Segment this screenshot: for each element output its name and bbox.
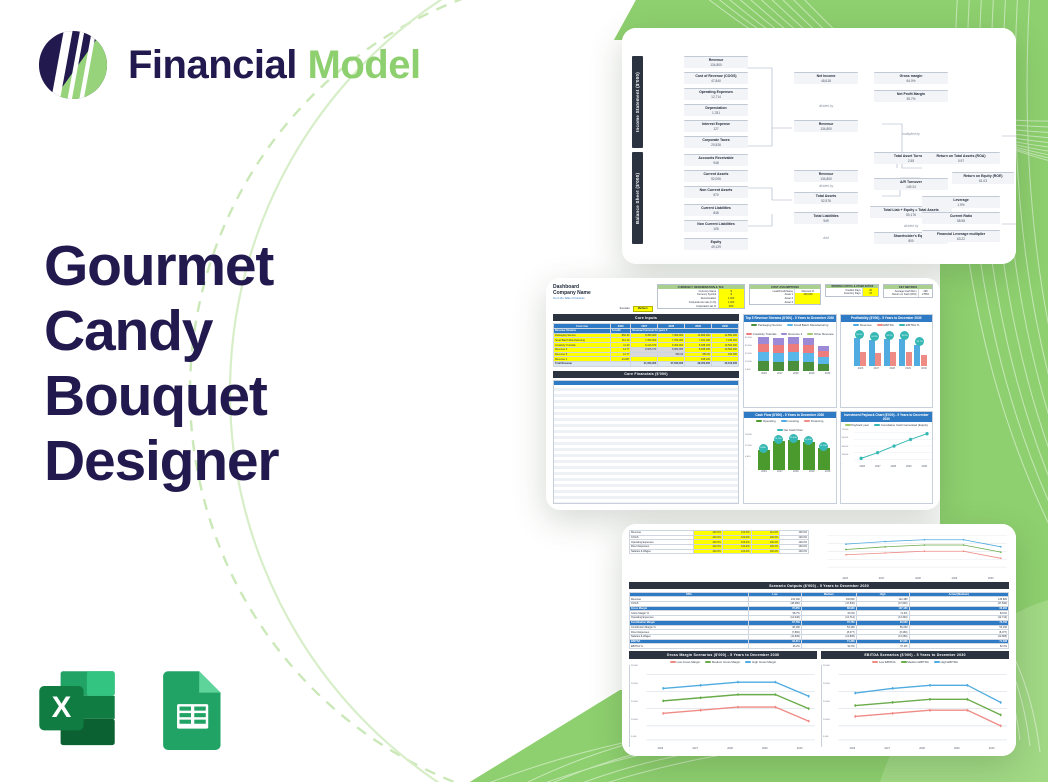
dupont-node-leverage: Leverage 1.9% [922,196,1000,208]
x-axis-labels: 2026 2027 2028 2029 2030 [813,576,1009,580]
dupont-node-total-assets: Total Assets 52,576 [794,192,858,204]
dupont-operator-divided-2: divided by [794,184,858,188]
dupont-node-financial-leverage-multiplier: Financial Leverage multiplier 63.22 [922,230,1000,242]
file-format-icons: X [36,668,232,750]
data-label: 9,800 [759,444,768,453]
chart-legend: Revenue EBITDA EBITDA % [841,322,933,329]
dashboard-toc-link[interactable]: Go to the Table of Contents [553,297,653,300]
panel-currency-denomination: CURRENCY, DENOMINATION & TAX Currency Na… [657,284,745,309]
kpi-label: Return on Cash (ROI) [884,293,918,297]
dashboard-charts-grid: Top 5 Revenue Streams ($'000) - 5 Years … [743,314,933,504]
dupont-operator-divided-3: divided by [874,224,948,228]
chart-plot-area: 34.0% 34.3% 34.1% [841,328,933,374]
title-line-3: Bouquet [44,364,267,428]
bars [744,337,836,371]
chart-plot-area: 18,000 12,000 6,000 - 9,800 14,750 [744,434,836,478]
dupont-node-equity: Equity 49,129 [684,238,748,250]
dupont-node-current-ratio: Current Ratio 58.98 [922,212,1000,224]
chart-title: Gross Margin Scenarios ($'000) - 5 Years… [629,651,817,658]
bar [818,346,829,371]
chart-title: Investment Payback Chart ($'000) - 5 Yea… [841,412,933,422]
chart-plot-area: 72,000 54,000 36,000 18,000 - [841,429,933,473]
data-label: 34.1% [885,331,894,340]
dupont-node-ar: Accounts Receivable 948 [684,154,748,166]
chart-top-5-revenue-streams[interactable]: Top 5 Revenue Streams ($'000) - 5 Years … [743,314,837,407]
chart-legend: Packaging Service Small Batch Manufactur… [744,322,836,338]
bar [773,338,784,371]
dashboard-company-name: Company Name [553,290,591,296]
scenario-assumption-table: Revenue 100.0% 100.0% 110.0% 100.0% COGS… [629,530,809,580]
chart-legend: Operating Investing Financing Net Cash F… [744,418,836,434]
chart-plot-area: 45,000 35,000 25,000 15,000 5,000 [744,337,836,379]
brand-wordmark: Financial Model [128,43,421,88]
scenario-outputs-title: Scenario Outputs ($'000) - 5 Years to De… [629,582,1009,589]
y-axis-labels: 18,000 12,000 6,000 - [745,434,752,470]
scenario-top-row: Revenue 100.0% 100.0% 110.0% 100.0% COGS… [629,530,1009,580]
x-axis-labels: 2026 2027 2028 2029 2030 [841,366,933,370]
chart-cash-flow[interactable]: Cash Flow ($'000) - 5 Years to December … [743,411,837,504]
chart-gross-margin-scenarios[interactable]: Gross Margin Scenarios ($'000) - 5 Years… [629,651,817,750]
panel-cost-assumptions: COST ASSUMPTIONS Lead/Credit NameDiscoun… [749,284,822,305]
y-axis-labels: 72,000 54,000 36,000 18,000 - [842,429,849,465]
chart-title: EBITDA Scenarios ($'000) - 5 Years to De… [821,651,1009,658]
kpi-value[interactable]: 30% [718,304,744,308]
data-label: 14,500 [804,436,813,445]
dupont-analysis-sheet: Income Statement ($'000) Balance Sheet (… [622,28,1016,264]
table-total-row: Total Revenue 41,003,000 37,840,000 39,4… [554,361,739,366]
screenshot-card-scenario[interactable]: Revenue 100.0% 100.0% 110.0% 100.0% COGS… [622,524,1016,756]
brand-name-part2: Model [308,43,421,87]
brand-logo: Financial Model [36,28,421,102]
dupont-node-opex: Operating Expenses 12,714 [684,88,748,100]
core-financials-title: Core Financials ($'000) [553,371,739,378]
data-label: 15,400 [789,434,798,443]
dupont-node-interest: Interest Expense 127 [684,120,748,132]
dupont-node-current-assets: Current Assets 52,006 [684,170,748,182]
data-label: 11,100 [819,442,828,451]
dashboard-body: Core Inputs Cost Line 2026 2027 2028 202… [553,314,933,504]
dupont-node-roa: Return on Total Assets (ROA) 0.97 [922,152,1000,164]
brand-name-part1: Financial [128,43,297,87]
dashboard-title: Dashboard [553,284,579,290]
chart-ebitda-scenarios[interactable]: EBITDA Scenarios ($'000) - 5 Years to De… [821,651,1009,750]
data-label: 14,750 [774,435,783,444]
table-row: Salaries & Wages 100.0% 100.0% 100.0% 10… [630,549,809,554]
data-label: 34.3% [870,332,879,341]
line-series [841,429,933,465]
chart-legend: Payback year Cumulative Cash Generated (… [841,422,933,429]
y-axis-labels: 25,000 20,000 15,000 10,000 5,000 [631,665,638,738]
screenshot-card-dupont[interactable]: Income Statement ($'000) Balance Sheet (… [622,28,1016,264]
bars: 9,800 14,750 15,400 14,500 11,100 [744,434,836,470]
dashboard-sheet: Dashboard Company Name Go to the Table o… [546,278,940,510]
dupont-operator-divided-1: divided by [794,104,858,108]
core-inputs-table: Cost Line 2026 2027 2028 2029 2030 Reven… [553,323,739,366]
dupont-connectors [622,28,1016,264]
data-label: 33.9% [900,331,909,340]
poster-canvas: Financial Model Gourmet Candy Bouquet De… [0,0,1048,782]
line-series [630,665,817,746]
scenario-bottom-charts: Gross Margin Scenarios ($'000) - 5 Years… [629,651,1009,750]
title-line-1: Gourmet [44,234,273,298]
chart-investment-payback[interactable]: Investment Payback Chart ($'000) - 5 Yea… [840,411,934,504]
dupont-node-gross-margin: Gross margin 64.0% [874,72,948,84]
scenario-label: Scenario [619,307,629,310]
google-sheets-icon[interactable] [150,668,232,750]
line-series [813,530,1009,576]
scenario-sheet: Revenue 100.0% 100.0% 110.0% 100.0% COGS… [622,524,1016,756]
x-axis-labels: 2026 2027 2028 2029 2030 [744,470,836,474]
y-axis-labels: 25,000 20,000 15,000 10,000 5,000 [823,665,830,738]
dupont-node-taxes: Corporate Taxes 20,526 [684,136,748,148]
dupont-node-total-liabilities: Total Liabilities 949 [794,212,858,224]
dupont-node-current-liabilities: Current Liabilities 848 [684,204,748,216]
title-line-4: Designer [44,429,278,493]
dupont-node-net-profit-margin: Net Profit Margin 35.7% [874,90,948,102]
circle-bar-chart-logo [36,28,110,102]
revenue-scenarios-chart[interactable]: 2026 2027 2028 2029 2030 [813,530,1009,580]
kpi-label: Corporation tax % [658,304,718,308]
dupont-node-cogs: Cost of Revenue (COGS) 47,840 [684,72,748,84]
data-label: 33.7% [915,337,924,346]
panel-working-capital: WORKING CAPITAL & OTHER RATIOS Creditor … [825,284,879,297]
kpi-value[interactable]: 15 [862,292,878,296]
screenshot-card-dashboard[interactable]: Dashboard Company Name Go to the Table o… [546,278,940,510]
kpi-value: 2.55% [918,293,932,297]
bars: 34.0% 34.3% 34.1% [841,328,933,366]
dupont-node-roe: Return on Equity (ROE) 61.03 [952,172,1014,184]
dupont-node-revenue: Revenue 134,800 [684,56,748,68]
chart-legend: Low EBITDA Medium EBITDA High EBITDA [821,659,1009,666]
dupont-node-depreciation: Depreciation 1,781 [684,104,748,116]
bar [758,337,769,371]
chart-legend: Low Gross Margin Medium Gross Margin Hig… [629,659,817,666]
scenario-outputs-table: KPIs Low Medium High Actual (Medium) Rev… [629,592,1009,649]
title-line-2: Candy [44,299,212,363]
core-inputs-title: Core Inputs [553,314,739,321]
scenario-select[interactable]: Medium [633,306,653,312]
x-axis-labels: 2026 2027 2028 2029 2030 [629,747,817,751]
panel-key-metrics: KEY METRICS Average Cash Burn348 Return … [883,284,933,298]
page-title: Gourmet Candy Bouquet Designer [44,234,434,494]
y-axis-labels: 45,000 35,000 25,000 15,000 5,000 [745,337,752,371]
x-axis-labels: 2026 2027 2028 2029 2030 [744,371,836,375]
dashboard-left-column: Core Inputs Cost Line 2026 2027 2028 202… [553,314,739,504]
core-financials-grid [553,380,739,504]
data-label: 34.0% [855,330,864,339]
table-row: EBITDA % 46.2%52.0% 57.0%52.0% [630,644,1009,649]
dashboard-brand-block: Dashboard Company Name Go to the Table o… [553,284,653,312]
svg-text:X: X [52,691,72,724]
bar [788,337,799,371]
chart-profitability[interactable]: Profitability ($'000) - 5 Years to Decem… [840,314,934,407]
line-series [822,665,1009,746]
dupont-operator-add: Add [794,236,858,240]
microsoft-excel-icon[interactable]: X [36,668,118,750]
dupont-node-non-current-liabilities: Non Current Liabilities 105 [684,220,748,232]
dashboard-header-row: Dashboard Company Name Go to the Table o… [553,284,933,312]
dupont-node-revenue-bal: Revenue 134,800 [794,170,858,182]
kpi-label: Asset 3 [750,301,795,305]
dupont-operator-multiplied-1: multiplied by [874,132,948,136]
bar [803,338,814,371]
dupont-node-revenue-mid: Revenue 134,800 [794,120,858,132]
kpi-label: Inventory Days [826,292,862,296]
x-axis-labels: 2026 2027 2028 2029 2030 [821,747,1009,751]
x-axis-labels: 2026 2027 2028 2029 2030 [841,465,933,469]
dupont-node-non-current-assets: Non Current Assets 570 [684,186,748,198]
kpi-value[interactable] [794,301,820,305]
dupont-node-net-income: Net Income 48,618 [794,72,858,84]
